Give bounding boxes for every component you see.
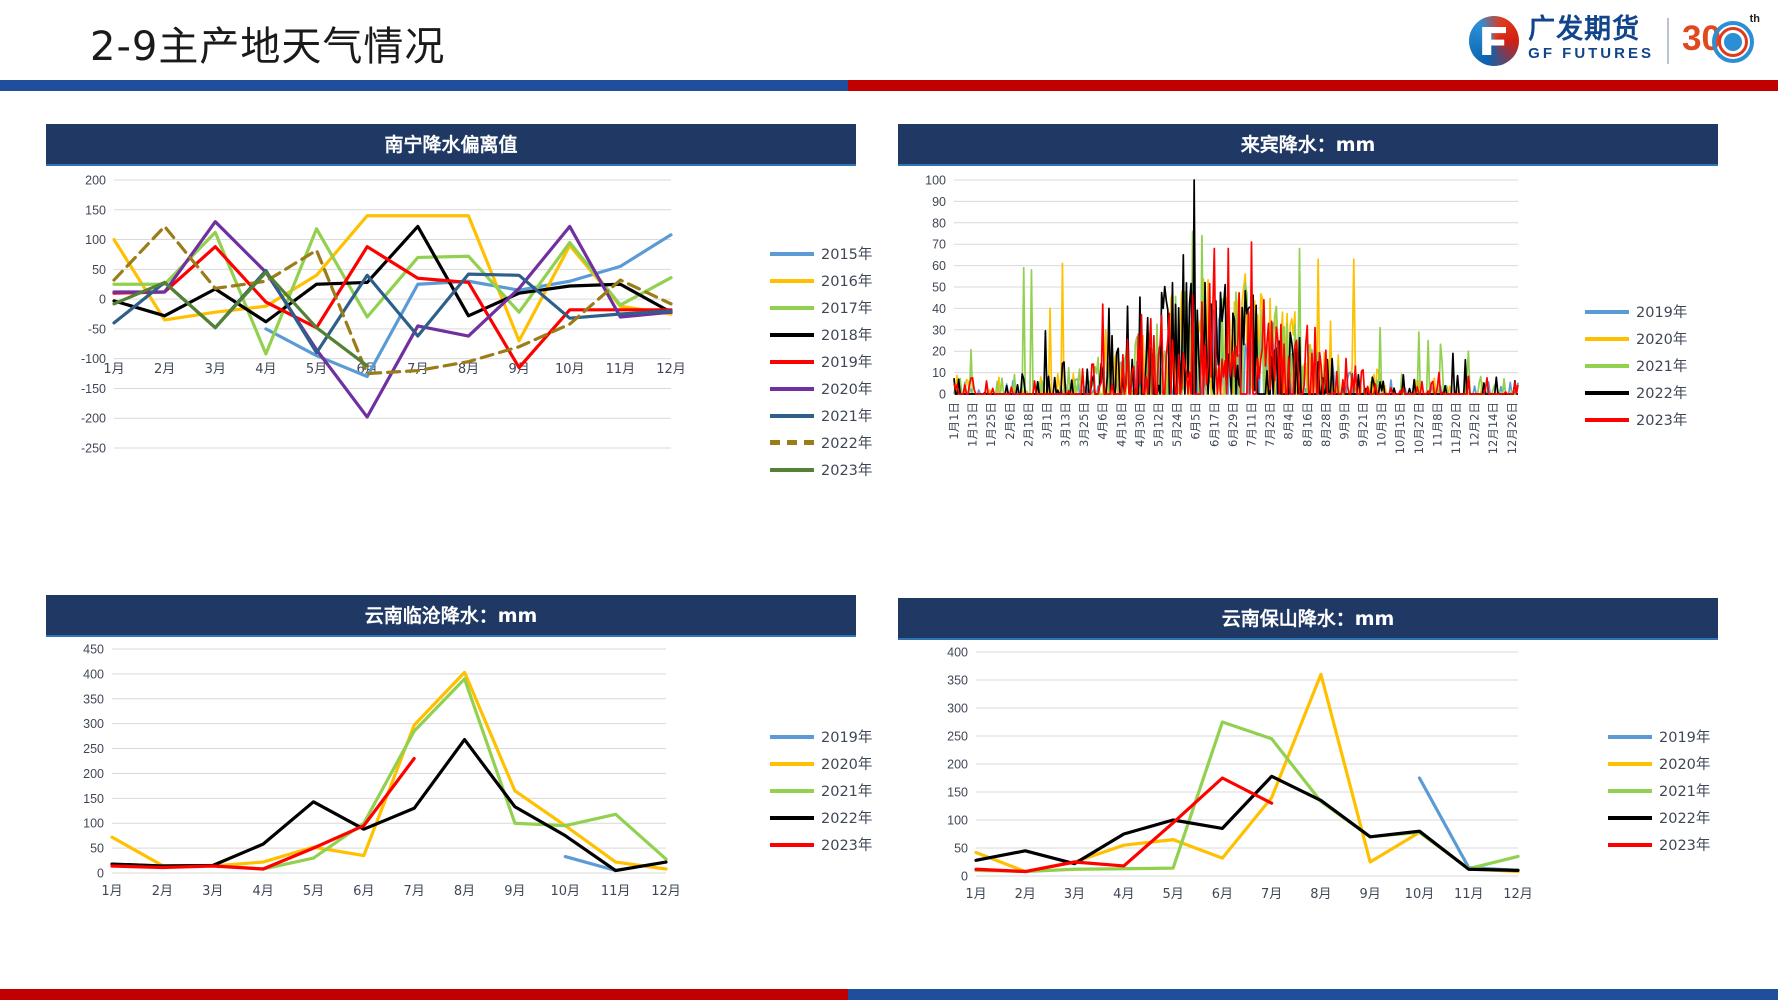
legend-item[interactable]: 2021年 <box>1608 777 1710 804</box>
gf-logo-mark-icon <box>1469 16 1519 66</box>
legend-label: 2021年 <box>1636 355 1687 376</box>
legend-item[interactable]: 2022年 <box>770 804 872 831</box>
x-axis-tick: 10月27日 <box>1412 402 1426 454</box>
x-axis-tick: 11月20日 <box>1449 402 1463 454</box>
y-axis-tick: 40 <box>932 302 946 316</box>
legend-label: 2019年 <box>821 726 872 747</box>
x-axis-tick: 11月 <box>606 362 636 377</box>
legend-label: 2016年 <box>821 270 872 291</box>
chart-svg: 4003503002502001501005001月2月3月4月5月6月7月8月… <box>898 640 1718 928</box>
footer-accent-bar <box>0 989 1778 1000</box>
page-title: 2-9主产地天气情况 <box>90 14 445 72</box>
y-axis-tick: -50 <box>88 322 106 336</box>
x-axis-tick: 11月8日 <box>1430 402 1444 447</box>
chart-title-nanning: 南宁降水偏离值 <box>46 124 856 166</box>
x-axis-tick: 4月18日 <box>1114 402 1128 447</box>
legend-label: 2023年 <box>1636 409 1687 430</box>
header-bar-red <box>848 80 1778 91</box>
y-axis-tick: 100 <box>925 174 946 188</box>
x-axis-tick: 3月 <box>202 884 223 899</box>
legend-swatch-icon <box>1608 843 1652 847</box>
legend-item[interactable]: 2023年 <box>770 831 872 858</box>
y-axis-tick: -200 <box>81 412 106 426</box>
x-axis-tick: 9月 <box>1360 887 1381 902</box>
y-axis-tick: 250 <box>947 730 968 744</box>
legend-swatch-icon <box>770 789 814 793</box>
y-axis-tick: 90 <box>932 195 946 209</box>
x-axis-tick: 8月28日 <box>1319 402 1333 447</box>
chart-series-line <box>112 740 666 871</box>
legend-swatch-icon <box>1585 391 1629 395</box>
y-axis-tick: 100 <box>83 817 104 831</box>
y-axis-tick: 400 <box>947 646 968 660</box>
x-axis-tick: 1月13日 <box>966 402 980 447</box>
y-axis-tick: 20 <box>932 345 946 359</box>
x-axis-tick: 9月21日 <box>1356 402 1370 447</box>
x-axis-tick: 5月 <box>1162 887 1183 902</box>
legend-swatch-icon <box>770 816 814 820</box>
y-axis-tick: 400 <box>83 667 104 681</box>
y-axis-tick: 300 <box>947 702 968 716</box>
legend-item[interactable]: 2020年 <box>770 375 872 402</box>
x-axis-tick: 1月1日 <box>947 402 961 440</box>
legend-label: 2022年 <box>1636 382 1687 403</box>
y-axis-tick: 50 <box>90 842 104 856</box>
y-axis-tick: 70 <box>932 238 946 252</box>
legend-swatch-icon <box>770 360 814 364</box>
legend-item[interactable]: 2023年 <box>770 456 872 483</box>
legend-item[interactable]: 2015年 <box>770 240 872 267</box>
x-axis-tick: 8月 <box>458 362 479 377</box>
x-axis-tick: 11月 <box>1454 887 1484 902</box>
legend-item[interactable]: 2017年 <box>770 294 872 321</box>
y-axis-tick: 450 <box>83 643 104 657</box>
slide-root: 2-9主产地天气情况 广发期货 GF FUTURES 30 th 南宁降水偏离值… <box>0 0 1778 1000</box>
anniversary-badge-icon: 30 th <box>1682 15 1756 67</box>
x-axis-tick: 10月 <box>555 362 585 377</box>
x-axis-tick: 2月 <box>152 884 173 899</box>
chart-panel-nanning: 南宁降水偏离值 200150100500-50-100-150-200-2501… <box>46 124 856 504</box>
legend-swatch-icon <box>1585 310 1629 314</box>
legend-item[interactable]: 2023年 <box>1608 831 1710 858</box>
legend-swatch-icon <box>770 333 814 337</box>
legend-label: 2018年 <box>821 324 872 345</box>
legend-swatch-icon <box>770 440 814 445</box>
legend-item[interactable]: 2021年 <box>770 402 872 429</box>
footer-bar-red <box>0 989 848 1000</box>
y-axis-tick: 150 <box>947 786 968 800</box>
x-axis-tick: 3月 <box>1064 887 1085 902</box>
chart-series-line <box>114 216 671 341</box>
chart-panel-lincang: 云南临沧降水：mm 4504003503002502001501005001月2… <box>46 595 856 925</box>
legend-label: 2020年 <box>1636 328 1687 349</box>
x-axis-tick: 4月 <box>255 362 276 377</box>
x-axis-tick: 7月 <box>1261 887 1282 902</box>
legend-label: 2023年 <box>821 459 872 480</box>
y-axis-tick: 50 <box>954 842 968 856</box>
x-axis-tick: 8月 <box>454 884 475 899</box>
legend-label: 2022年 <box>1659 807 1710 828</box>
chart-series-line <box>976 674 1518 871</box>
y-axis-tick: 200 <box>85 174 106 188</box>
y-axis-tick: 50 <box>92 263 106 277</box>
y-axis-tick: 0 <box>99 293 106 307</box>
legend-label: 2020年 <box>1659 753 1710 774</box>
chart-plot-lincang: 4504003503002502001501005001月2月3月4月5月6月7… <box>46 637 856 925</box>
y-axis-tick: 350 <box>83 692 104 706</box>
chart-panel-baoshan: 云南保山降水：mm 4003503002502001501005001月2月3月… <box>898 598 1718 928</box>
x-axis-tick: 5月 <box>306 362 327 377</box>
x-axis-tick: 2月 <box>1015 887 1036 902</box>
chart-series-line <box>112 672 666 869</box>
y-axis-tick: 10 <box>932 366 946 380</box>
chart-legend-baoshan: 2019年2020年2021年2022年2023年 <box>1608 723 1710 858</box>
y-axis-tick: 30 <box>932 323 946 337</box>
x-axis-tick: 10月 <box>550 884 580 899</box>
legend-label: 2023年 <box>1659 834 1710 855</box>
legend-label: 2020年 <box>821 378 872 399</box>
legend-label: 2022年 <box>821 432 872 453</box>
x-axis-tick: 6月 <box>1212 887 1233 902</box>
x-axis-tick: 3月 <box>205 362 226 377</box>
legend-swatch-icon <box>1608 789 1652 793</box>
y-axis-tick: -150 <box>81 382 106 396</box>
legend-swatch-icon <box>770 468 814 472</box>
legend-item[interactable]: 2019年 <box>1608 723 1710 750</box>
x-axis-tick: 11月 <box>601 884 631 899</box>
chart-title-laibin: 来宾降水：mm <box>898 124 1718 166</box>
x-axis-tick: 4月6日 <box>1096 402 1110 440</box>
chart-svg: 4504003503002502001501005001月2月3月4月5月6月7… <box>46 637 856 925</box>
legend-item[interactable]: 2023年 <box>1585 406 1687 433</box>
x-axis-tick: 1月 <box>965 887 986 902</box>
legend-item[interactable]: 2020年 <box>1585 325 1687 352</box>
x-axis-tick: 10月15日 <box>1393 402 1407 454</box>
y-axis-tick: 350 <box>947 674 968 688</box>
legend-swatch-icon <box>1608 735 1652 739</box>
x-axis-tick: 12月 <box>651 884 681 899</box>
y-axis-tick: -100 <box>81 352 106 366</box>
x-axis-tick: 3月1日 <box>1040 402 1054 440</box>
x-axis-tick: 5月24日 <box>1170 402 1184 447</box>
x-axis-tick: 8月16日 <box>1300 402 1314 447</box>
legend-item[interactable]: 2022年 <box>1585 379 1687 406</box>
x-axis-tick: 8月4日 <box>1282 402 1296 440</box>
legend-label: 2020年 <box>821 753 872 774</box>
x-axis-tick: 2月 <box>154 362 175 377</box>
x-axis-tick: 5月12日 <box>1152 402 1166 447</box>
x-axis-tick: 6月17日 <box>1207 402 1221 447</box>
x-axis-tick: 4月 <box>252 884 273 899</box>
y-axis-tick: 60 <box>932 259 946 273</box>
y-axis-tick: 200 <box>947 758 968 772</box>
legend-label: 2021年 <box>1659 780 1710 801</box>
legend-label: 2017年 <box>821 297 872 318</box>
anniversary-suffix: th <box>1750 13 1760 25</box>
legend-item[interactable]: 2019年 <box>770 348 872 375</box>
legend-item[interactable]: 2018年 <box>770 321 872 348</box>
x-axis-tick: 7月11日 <box>1244 402 1258 447</box>
y-axis-tick: 100 <box>947 814 968 828</box>
x-axis-tick: 2月18日 <box>1021 402 1035 447</box>
x-axis-tick: 9月 <box>508 362 529 377</box>
legend-swatch-icon <box>770 306 814 310</box>
x-axis-tick: 7月23日 <box>1263 402 1277 447</box>
legend-item[interactable]: 2016年 <box>770 267 872 294</box>
legend-item[interactable]: 2020年 <box>770 750 872 777</box>
y-axis-tick: 0 <box>97 867 104 881</box>
legend-swatch-icon <box>1608 816 1652 820</box>
legend-swatch-icon <box>770 279 814 283</box>
y-axis-tick: 150 <box>83 792 104 806</box>
y-axis-tick: 0 <box>939 388 946 402</box>
x-axis-tick: 10月 <box>1405 887 1435 902</box>
y-axis-tick: 150 <box>85 203 106 217</box>
header-bar-blue <box>0 80 848 91</box>
legend-swatch-icon <box>770 414 814 418</box>
chart-legend-nanning: 2015年2016年2017年2018年2019年2020年2021年2022年… <box>770 240 872 483</box>
x-axis-tick: 12月14日 <box>1486 402 1500 454</box>
y-axis-tick: 0 <box>961 870 968 884</box>
legend-label: 2019年 <box>1659 726 1710 747</box>
x-axis-tick: 9月9日 <box>1337 402 1351 440</box>
anniversary-ring-inner <box>1724 33 1742 51</box>
x-axis-tick: 4月30日 <box>1133 402 1147 447</box>
legend-swatch-icon <box>1585 364 1629 368</box>
legend-item[interactable]: 2019年 <box>770 723 872 750</box>
y-axis-tick: -250 <box>81 442 106 456</box>
legend-item[interactable]: 2022年 <box>770 429 872 456</box>
legend-label: 2022年 <box>821 807 872 828</box>
y-axis-tick: 80 <box>932 216 946 230</box>
x-axis-tick: 3月25日 <box>1077 402 1091 447</box>
x-axis-tick: 6月5日 <box>1189 402 1203 440</box>
x-axis-tick: 1月 <box>101 884 122 899</box>
footer-bar-blue <box>848 989 1778 1000</box>
legend-label: 2023年 <box>821 834 872 855</box>
x-axis-tick: 4月 <box>1113 887 1134 902</box>
x-axis-tick: 5月 <box>303 884 324 899</box>
x-axis-tick: 6月 <box>353 884 374 899</box>
legend-label: 2021年 <box>821 405 872 426</box>
legend-swatch-icon <box>1608 762 1652 766</box>
chart-series-line <box>976 722 1518 872</box>
x-axis-tick: 2月6日 <box>1003 402 1017 440</box>
x-axis-tick: 7月 <box>404 884 425 899</box>
y-axis-tick: 100 <box>85 233 106 247</box>
x-axis-tick: 8月 <box>1310 887 1331 902</box>
chart-legend-lincang: 2019年2020年2021年2022年2023年 <box>770 723 872 858</box>
legend-swatch-icon <box>1585 337 1629 341</box>
chart-legend-laibin: 2019年2020年2021年2022年2023年 <box>1585 298 1687 433</box>
x-axis-tick: 12月2日 <box>1468 402 1482 447</box>
gf-futures-logo: 广发期货 GF FUTURES 30 th <box>1469 12 1756 70</box>
logo-company-cn: 广发期货 <box>1528 16 1654 43</box>
legend-item[interactable]: 2021年 <box>770 777 872 804</box>
legend-swatch-icon <box>770 843 814 847</box>
legend-label: 2019年 <box>821 351 872 372</box>
x-axis-tick: 12月 <box>1503 887 1533 902</box>
legend-swatch-icon <box>770 735 814 739</box>
legend-label: 2021年 <box>821 780 872 801</box>
x-axis-tick: 6月29日 <box>1226 402 1240 447</box>
legend-swatch-icon <box>770 762 814 766</box>
y-axis-tick: 200 <box>83 767 104 781</box>
legend-swatch-icon <box>1585 418 1629 422</box>
chart-title-baoshan: 云南保山降水：mm <box>898 598 1718 640</box>
x-axis-tick: 10月3日 <box>1375 402 1389 447</box>
x-axis-tick: 1月 <box>103 362 124 377</box>
x-axis-tick: 9月 <box>504 884 525 899</box>
x-axis-tick: 1月25日 <box>984 402 998 447</box>
x-axis-tick: 12月 <box>656 362 686 377</box>
y-axis-tick: 50 <box>932 281 946 295</box>
header-accent-bar <box>0 80 1778 91</box>
chart-plot-nanning: 200150100500-50-100-150-200-2501月2月3月4月5… <box>46 166 856 504</box>
chart-svg: 200150100500-50-100-150-200-2501月2月3月4月5… <box>46 166 856 504</box>
legend-swatch-icon <box>770 252 814 256</box>
y-axis-tick: 300 <box>83 717 104 731</box>
chart-plot-baoshan: 4003503002502001501005001月2月3月4月5月6月7月8月… <box>898 640 1718 928</box>
chart-title-lincang: 云南临沧降水：mm <box>46 595 856 637</box>
y-axis-tick: 250 <box>83 742 104 756</box>
x-axis-tick: 3月13日 <box>1059 402 1073 447</box>
legend-item[interactable]: 2020年 <box>1608 750 1710 777</box>
legend-label: 2019年 <box>1636 301 1687 322</box>
logo-company-en: GF FUTURES <box>1528 43 1654 66</box>
logo-divider <box>1667 18 1669 64</box>
legend-item[interactable]: 2019年 <box>1585 298 1687 325</box>
legend-item[interactable]: 2022年 <box>1608 804 1710 831</box>
legend-label: 2015年 <box>821 243 872 264</box>
legend-swatch-icon <box>770 387 814 391</box>
x-axis-tick: 12月26日 <box>1505 402 1519 454</box>
legend-item[interactable]: 2021年 <box>1585 352 1687 379</box>
